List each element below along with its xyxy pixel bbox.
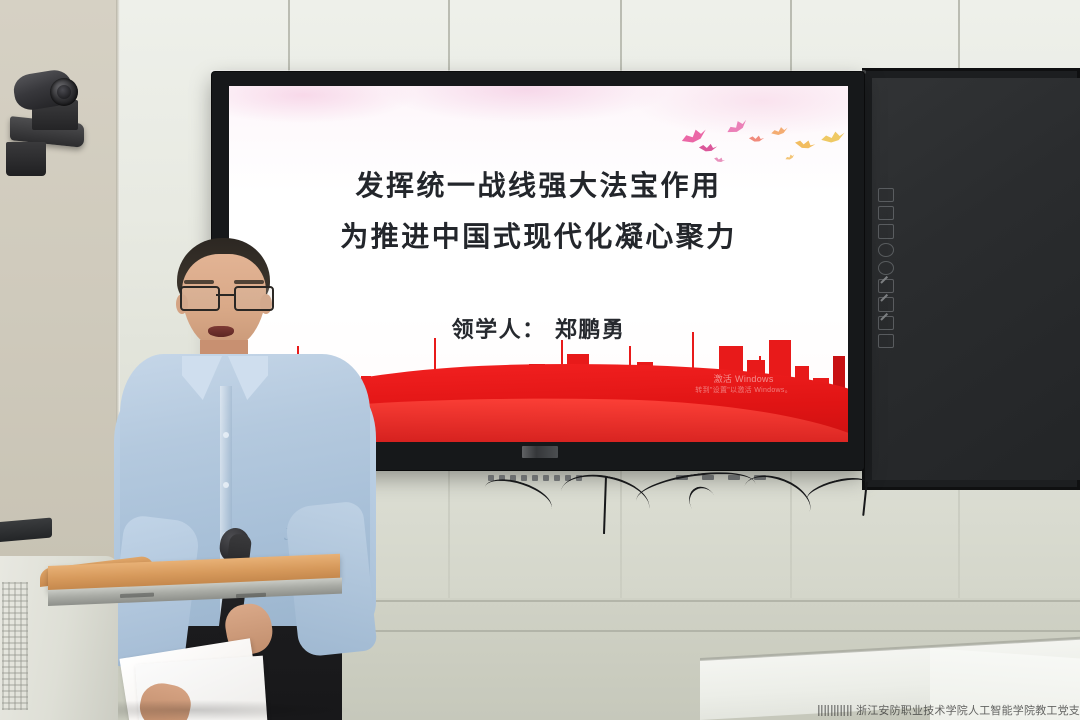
display-brand-logo [522, 446, 558, 458]
target-icon[interactable] [878, 261, 894, 275]
lectern-speaker-grille [2, 582, 28, 710]
pen-icon[interactable] [878, 279, 894, 293]
qr-icon[interactable] [878, 188, 894, 202]
camera-icon[interactable] [878, 224, 894, 238]
display-control-button[interactable] [521, 475, 527, 481]
display-control-button[interactable] [554, 475, 560, 481]
pen-icon[interactable] [878, 297, 894, 311]
record-icon[interactable] [878, 243, 894, 257]
floor-seam [360, 630, 1080, 632]
slide-title-line-1: 发挥统一战线强大法宝作用 [229, 172, 848, 200]
presenter-brow-right [234, 280, 264, 284]
organization-watermark-text: 浙江安防职业技术学院人工智能学院教工党支部 [856, 702, 1080, 718]
bird-magenta-icon [698, 141, 717, 154]
save-icon[interactable] [878, 206, 894, 220]
display-control-button[interactable] [532, 475, 538, 481]
camera-wall-mount [6, 142, 46, 176]
ptz-camera [2, 58, 98, 158]
windows-watermark-line-2: 转到"设置"以激活 Windows。 [695, 386, 792, 396]
shirt-button [223, 482, 229, 488]
presenter-mouth [208, 326, 234, 337]
highlighter-icon[interactable] [878, 316, 894, 330]
display-control-button[interactable] [543, 475, 549, 481]
secondary-panel-screen[interactable] [872, 78, 1080, 480]
windows-watermark-line-1: 激活 Windows [695, 373, 792, 386]
organization-logo-icon [818, 705, 852, 716]
eraser-icon[interactable] [878, 334, 894, 348]
presenter-brow-left [184, 280, 214, 284]
secondary-panel-toolbar[interactable] [876, 188, 895, 348]
camera-lens-inner [57, 85, 71, 99]
eyeglasses [178, 286, 272, 308]
shirt-button [223, 432, 229, 438]
bird-gold-icon [820, 129, 845, 145]
slide-top-wash [229, 86, 848, 178]
windows-activation-watermark: 激活 Windows 转到"设置"以激活 Windows。 [695, 373, 792, 396]
organization-watermark: 浙江安防职业技术学院人工智能学院教工党支部 [818, 702, 1080, 718]
photo-scene: 发挥统一战线强大法宝作用 为推进中国式现代化凝心聚力 领学人： 郑鹏勇 激活 W… [0, 0, 1080, 720]
eyeglass-bridge [216, 294, 234, 296]
eyeglass-lens-right [234, 286, 274, 311]
presenter: ƒ [120, 236, 370, 720]
eyeglass-lens-left [180, 286, 220, 311]
